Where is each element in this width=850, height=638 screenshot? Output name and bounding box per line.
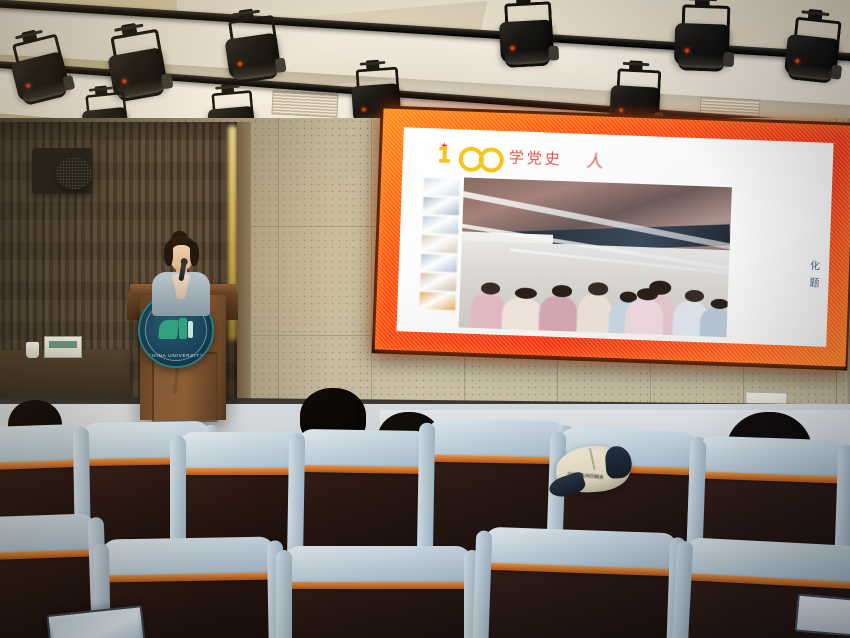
photo-figure-head <box>515 287 537 299</box>
laptop-display <box>52 611 140 638</box>
slide-main-photo <box>459 177 732 337</box>
power-led-icon <box>795 59 799 63</box>
seat-side-panel <box>417 423 435 555</box>
photo-figure <box>699 307 731 337</box>
photo-figure <box>501 297 542 334</box>
light-housing <box>499 20 554 64</box>
slide-surface: ★ 1 学党史 人 化 题 <box>396 127 833 347</box>
logo-ring-icon <box>478 147 504 173</box>
light-housing <box>784 34 840 79</box>
power-led-icon <box>362 108 366 112</box>
light-housing <box>225 33 282 80</box>
presenter-hair-side <box>190 242 199 266</box>
slide-thumbnail-6 <box>420 273 457 291</box>
air-vent-icon <box>271 90 338 117</box>
slide-thumbnail-2 <box>423 197 460 215</box>
slide-thumbnail-4 <box>421 235 458 253</box>
paper-cup <box>26 342 39 358</box>
photo-figure <box>469 293 505 333</box>
cpc-centenary-100-logo: ★ 1 <box>437 141 500 167</box>
slide-thumbnail-column <box>419 178 460 310</box>
tablet-screen[interactable] <box>794 594 850 637</box>
photo-figure <box>539 295 578 335</box>
photo-figure <box>576 294 612 337</box>
photo-figure-head <box>551 285 572 297</box>
photo-figure <box>625 298 664 337</box>
presenter-hair-side <box>164 242 173 266</box>
seat-row2-c[interactable] <box>288 556 468 638</box>
led-presentation-screen[interactable]: ★ 1 学党史 人 化 题 <box>372 105 850 370</box>
light-housing <box>674 23 730 67</box>
seat-row2-d[interactable] <box>484 537 674 638</box>
seat-trim <box>288 582 468 589</box>
presenter-at-podium <box>150 236 212 306</box>
seat-side-panel <box>276 550 292 638</box>
auditorium-scene: ★ 1 学党史 人 化 题 <box>0 0 850 638</box>
slide-thumbnail-1 <box>423 178 460 196</box>
power-led-icon <box>238 62 243 67</box>
photo-figure-head <box>481 282 501 294</box>
emblem-book-mark-icon <box>159 318 193 340</box>
table-box-item <box>44 336 82 358</box>
light-lens <box>678 53 725 71</box>
slide-thumbnail-3 <box>422 216 459 234</box>
photo-figure-head <box>710 298 728 309</box>
slide-title-secondary: 人 <box>585 147 611 173</box>
cap-seam <box>589 448 595 470</box>
timber-panel-edge <box>237 122 251 422</box>
power-led-icon <box>619 108 623 112</box>
slide-thumbnail-7 <box>419 292 456 310</box>
light-focus-knob <box>723 52 734 67</box>
power-led-icon <box>685 48 689 52</box>
slide-side-text: 化 题 <box>809 258 826 293</box>
photo-figure-head <box>588 282 608 295</box>
photo-figure-head <box>685 289 705 301</box>
emblem-english-text: CHINA UNIVERSITY <box>140 353 212 358</box>
slide-thumbnail-5 <box>421 254 458 272</box>
photo-figure-head <box>637 288 658 300</box>
slide-title: 学党史 <box>509 146 564 169</box>
light-lens <box>505 49 551 68</box>
logo-digit: 1 <box>437 142 451 166</box>
light-housing <box>107 47 168 98</box>
power-led-icon <box>122 79 127 84</box>
power-led-icon <box>510 46 514 50</box>
horn-speaker-icon <box>56 157 92 189</box>
